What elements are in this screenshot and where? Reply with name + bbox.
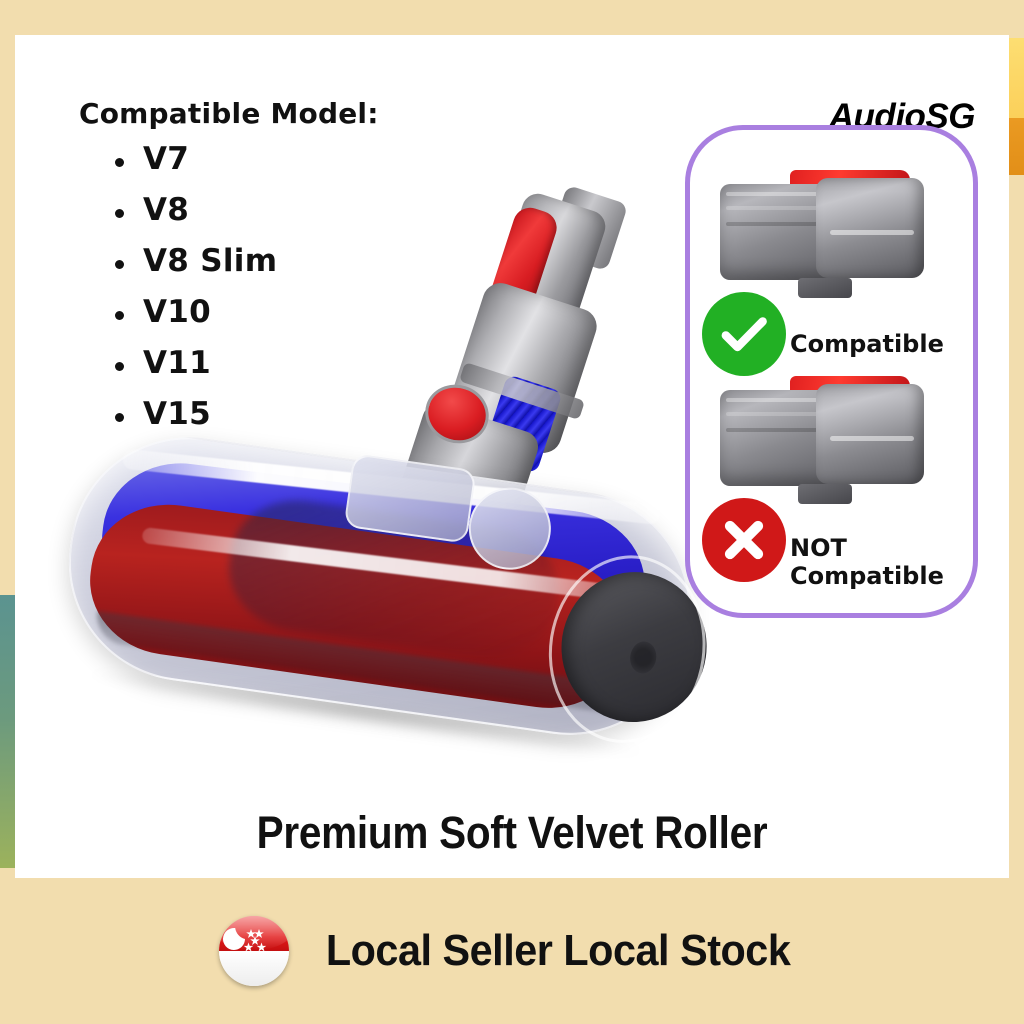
compatible-label: Compatible [790, 330, 944, 358]
cleaner-head [49, 422, 722, 788]
compatible-connector-photo [720, 170, 925, 290]
connector-latch-tab [798, 278, 852, 298]
red-cross-icon [702, 498, 786, 582]
not-compatible-connector-photo [720, 376, 925, 496]
flag-gloss [219, 916, 289, 950]
poster-frame: AudioSG Compatible Model: V7 V8 V8 Slim … [0, 0, 1024, 1024]
singapore-flag-icon [219, 916, 289, 986]
model-label: V7 [143, 141, 189, 177]
page-title: Premium Soft Velvet Roller [65, 807, 960, 859]
list-item: V7 [115, 144, 379, 175]
green-check-icon [702, 292, 786, 376]
banner-text: Local Seller Local Stock [326, 926, 791, 976]
connector-barrel [816, 178, 924, 278]
connector-barrel [816, 384, 924, 484]
connector-latch-tab [798, 484, 852, 504]
flag-white-band [219, 951, 289, 986]
bullet-icon [115, 158, 124, 167]
not-compatible-label: NOT Compatible [790, 534, 940, 591]
compatibility-panel: Compatible NOT Compatible [685, 125, 978, 618]
product-photo [55, 185, 735, 785]
poster-canvas: AudioSG Compatible Model: V7 V8 V8 Slim … [15, 35, 1009, 878]
compatible-model-heading: Compatible Model: [79, 97, 379, 130]
local-seller-banner: Local Seller Local Stock [0, 878, 1024, 1024]
